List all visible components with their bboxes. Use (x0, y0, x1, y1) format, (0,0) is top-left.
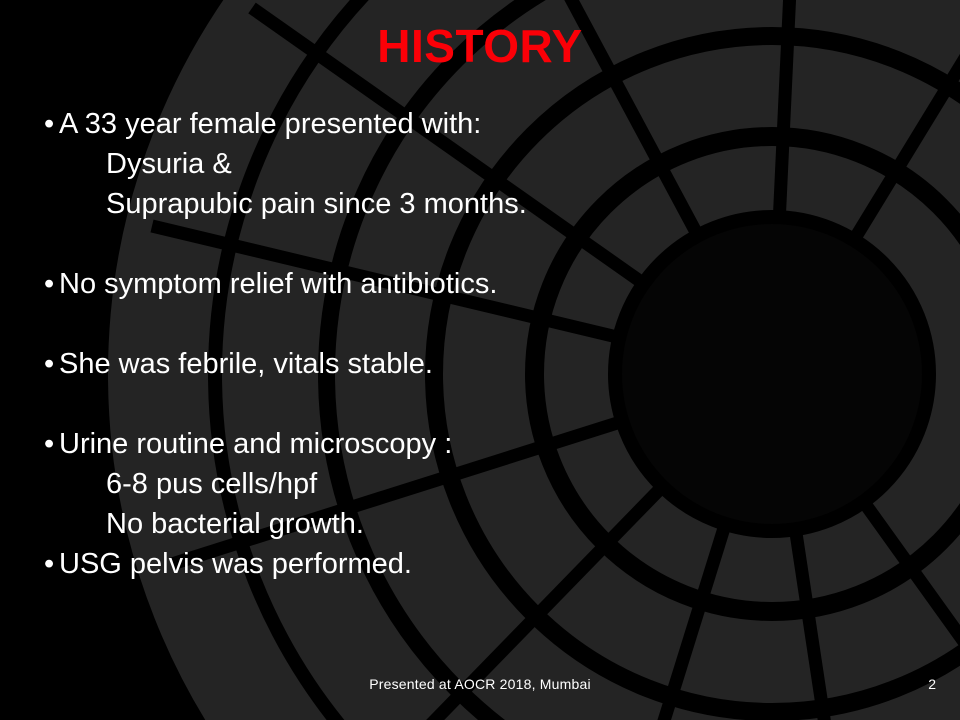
bullet-item: •Urine routine and microscopy : (44, 424, 684, 464)
page-number: 2 (928, 676, 936, 692)
slide-body: •A 33 year female presented with:Dysuria… (44, 104, 684, 584)
body-line-text: Dysuria & (106, 148, 232, 180)
body-line-text: A 33 year female presented with: (59, 108, 481, 140)
slide-title-text: HISTORY (377, 20, 582, 72)
body-line-text: Suprapubic pain since 3 months. (106, 188, 527, 220)
bullet-item: •USG pelvis was performed. (44, 544, 684, 584)
bullet-glyph-icon: • (44, 424, 59, 464)
bullet-item: •A 33 year female presented with: (44, 104, 684, 144)
sub-line: 6-8 pus cells/hpf (44, 464, 684, 504)
body-line-spacer (44, 384, 684, 424)
body-line-spacer (44, 224, 684, 264)
sub-line: Suprapubic pain since 3 months. (44, 184, 684, 224)
bullet-glyph-icon: • (44, 544, 59, 584)
sub-line: Dysuria & (44, 144, 684, 184)
footer-note: Presented at AOCR 2018, Mumbai (0, 676, 960, 692)
body-line-text: She was febrile, vitals stable. (59, 348, 433, 380)
sub-line: No bacterial growth. (44, 504, 684, 544)
body-line-text: USG pelvis was performed. (59, 548, 412, 580)
body-line-text: Urine routine and microscopy : (59, 428, 452, 460)
body-line-text: 6-8 pus cells/hpf (106, 468, 317, 500)
bullet-glyph-icon: • (44, 264, 59, 304)
body-line-text: No symptom relief with antibiotics. (59, 268, 497, 300)
body-line-text: No bacterial growth. (106, 508, 364, 540)
bullet-glyph-icon: • (44, 104, 59, 144)
presentation-slide: HISTORY •A 33 year female presented with… (0, 0, 960, 720)
bullet-glyph-icon: • (44, 344, 59, 384)
body-line-spacer (44, 304, 684, 344)
bullet-item: •No symptom relief with antibiotics. (44, 264, 684, 304)
slide-title: HISTORY (0, 22, 960, 70)
bullet-item: •She was febrile, vitals stable. (44, 344, 684, 384)
